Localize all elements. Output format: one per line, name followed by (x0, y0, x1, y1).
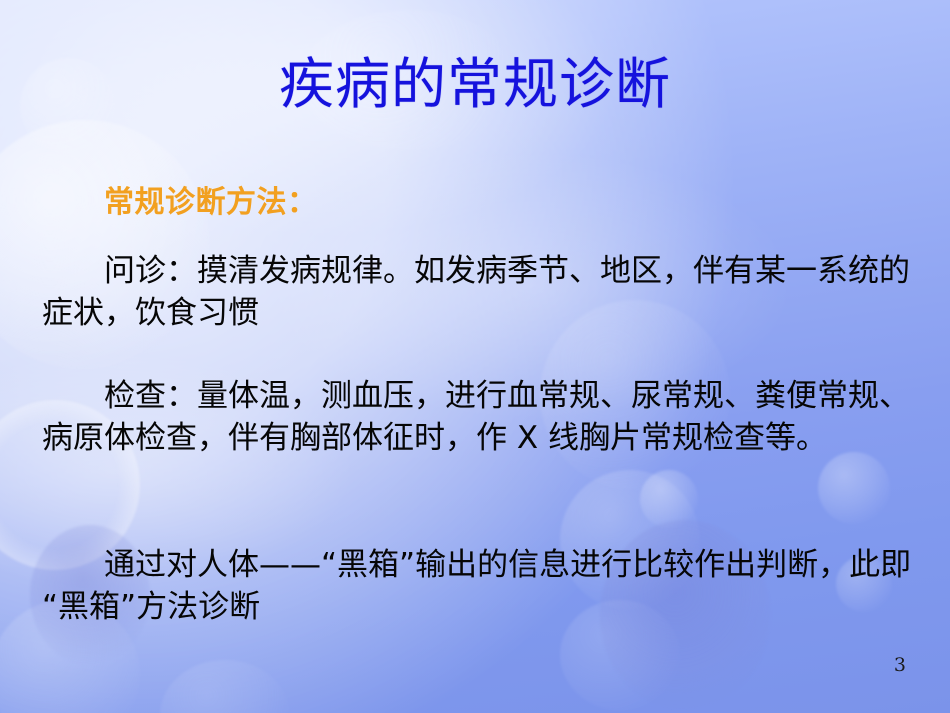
page-number: 3 (894, 656, 906, 675)
bubble-center-small (640, 470, 698, 528)
paragraph-examination: 检查：量体温，测血压，进行血常规、尿常规、粪便常规、病原体检查，伴有胸部体征时，… (42, 375, 922, 460)
paragraph-blackbox-block: 通过对人体——“黑箱”输出的信息进行比较作出判断，此即“黑箱”方法诊断 (42, 544, 922, 629)
bubble-lowleft-faint (160, 660, 290, 713)
paragraph-interview: 问诊：摸清发病规律。如发病季节、地区，伴有某一系统的症状，饮食习惯 (42, 250, 922, 335)
slide-title: 疾病的常规诊断 (0, 56, 950, 113)
paragraph-interview-block: 问诊：摸清发病规律。如发病季节、地区，伴有某一系统的症状，饮食习惯 (42, 250, 922, 335)
presentation-slide: 疾病的常规诊断 常规诊断方法： 问诊：摸清发病规律。如发病季节、地区，伴有某一系… (0, 0, 950, 713)
paragraph-blackbox: 通过对人体——“黑箱”输出的信息进行比较作出判断，此即“黑箱”方法诊断 (42, 544, 922, 629)
paragraph-examination-block: 检查：量体温，测血压，进行血常规、尿常规、粪便常规、病原体检查，伴有胸部体征时，… (42, 375, 922, 460)
bubble-right-mid (818, 452, 890, 524)
section-subheading: 常规诊断方法： (104, 186, 318, 219)
